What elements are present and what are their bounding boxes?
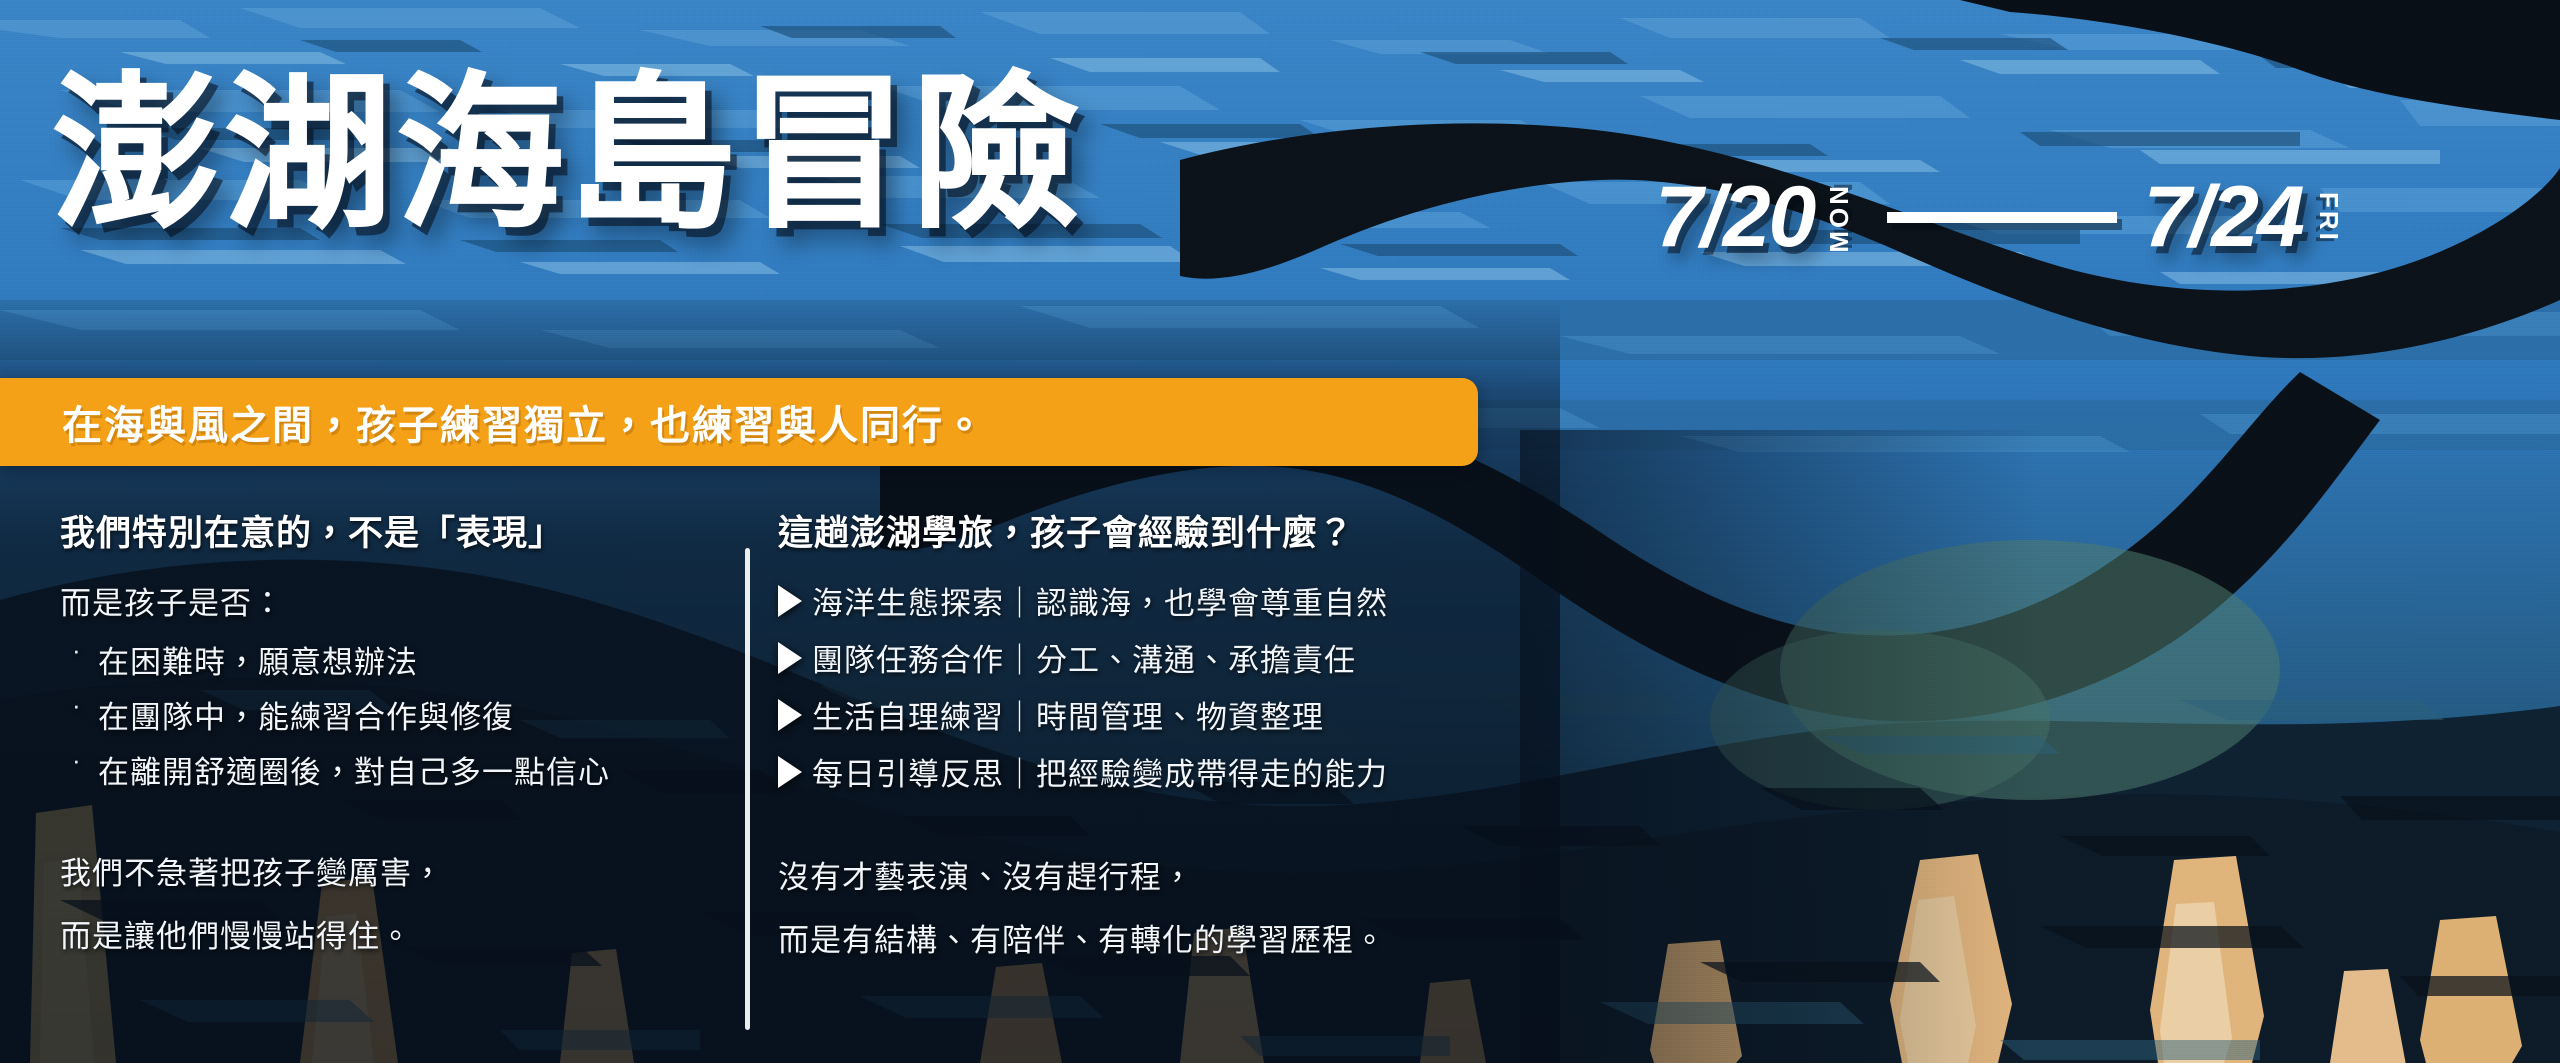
triangle-right-icon [778, 585, 802, 617]
page-title: 澎湖海島冒險 [52, 70, 1084, 238]
list-item: · 在離開舒適圈後，對自己多一點信心 [60, 747, 710, 792]
left-heading: 我們特別在意的，不是「表現」 [60, 505, 710, 556]
right-heading: 這趟澎湖學旅，孩子會經驗到什麼？ [778, 505, 1498, 556]
left-footer: 我們不急著把孩子變厲害， 而是讓他們慢慢站得住。 [60, 848, 710, 956]
right-footer: 沒有才藝表演、沒有趕行程， 而是有結構、有陪伴、有轉化的學習歷程。 [778, 852, 1498, 960]
date-range-dash-icon [1887, 212, 2117, 223]
triangle-right-icon [778, 642, 802, 674]
end-day-label: FRI [2313, 192, 2344, 243]
left-spacer [60, 802, 710, 848]
start-day-label: MON [1824, 183, 1855, 253]
bullet-dot-icon: · [72, 745, 82, 776]
bullet-dot-icon: · [72, 690, 82, 721]
list-item-label: 生活自理練習｜時間管理、物資整理 [812, 692, 1324, 737]
triangle-right-icon [778, 699, 802, 731]
poster-banner: 澎湖海島冒險 7/20 MON 7/24 FRI 在海與風之間，孩子練習獨立，也… [0, 0, 2560, 1063]
start-date: 7/20 [1655, 168, 1814, 267]
end-date: 7/24 [2143, 168, 2302, 267]
list-item: · 在困難時，願意想辦法 [60, 637, 710, 682]
subtitle-text: 在海與風之間，孩子練習獨立，也練習與人同行。 [62, 393, 986, 451]
list-item-label: 在離開舒適圈後，對自己多一點信心 [98, 755, 610, 790]
right-spacer [778, 806, 1498, 852]
right-footer-line: 而是有結構、有陪伴、有轉化的學習歷程。 [778, 915, 1498, 960]
content-columns: 我們特別在意的，不是「表現」 而是孩子是否： · 在困難時，願意想辦法 · 在團… [0, 505, 1520, 1063]
right-column: 這趟澎湖學旅，孩子會經驗到什麼？ 海洋生態探索｜認識海，也學會尊重自然 團隊任務… [778, 505, 1498, 978]
list-item-label: 每日引導反思｜把經驗變成帶得走的能力 [812, 749, 1388, 794]
list-item: · 在團隊中，能練習合作與修復 [60, 692, 710, 737]
subtitle-bar: 在海與風之間，孩子練習獨立，也練習與人同行。 [0, 378, 1478, 466]
list-item: 團隊任務合作｜分工、溝通、承擔責任 [778, 635, 1498, 680]
list-item-label: 在團隊中，能練習合作與修復 [98, 700, 514, 735]
right-footer-line: 沒有才藝表演、沒有趕行程， [778, 852, 1498, 897]
bullet-dot-icon: · [72, 635, 82, 666]
list-item-label: 團隊任務合作｜分工、溝通、承擔責任 [812, 635, 1356, 680]
list-item: 每日引導反思｜把經驗變成帶得走的能力 [778, 749, 1498, 794]
left-lead: 而是孩子是否： [60, 578, 710, 623]
list-item: 生活自理練習｜時間管理、物資整理 [778, 692, 1498, 737]
list-item: 海洋生態探索｜認識海，也學會尊重自然 [778, 578, 1498, 623]
date-range: 7/20 MON 7/24 FRI [1655, 168, 2344, 267]
list-item-label: 在困難時，願意想辦法 [98, 645, 418, 680]
left-column: 我們特別在意的，不是「表現」 而是孩子是否： · 在困難時，願意想辦法 · 在團… [60, 505, 710, 974]
left-footer-line: 而是讓他們慢慢站得住。 [60, 911, 710, 956]
triangle-right-icon [778, 756, 802, 788]
list-item-label: 海洋生態探索｜認識海，也學會尊重自然 [812, 578, 1388, 623]
left-footer-line: 我們不急著把孩子變厲害， [60, 848, 710, 893]
